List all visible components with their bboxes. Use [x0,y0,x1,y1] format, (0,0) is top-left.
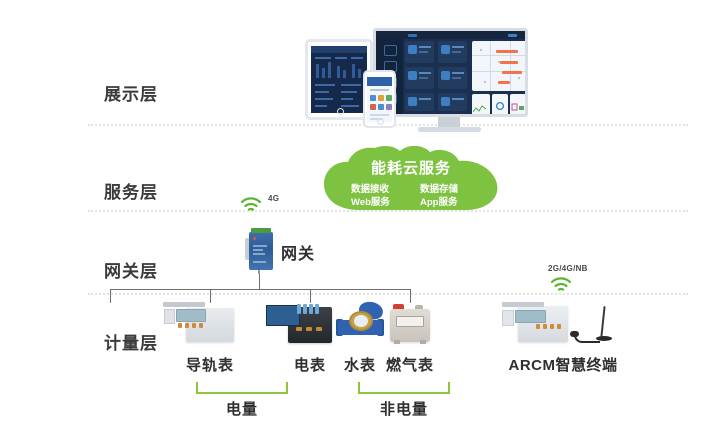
display-layer-devices [305,8,540,120]
bracket-electric-quantity [196,382,288,394]
antenna-plug [570,331,579,337]
connector-bus [110,289,410,290]
gateway-device-icon [245,228,275,272]
layer-divider-3 [88,293,688,295]
wifi-signal-icon [240,196,262,213]
gateway-label: 网关 [281,240,315,264]
bracket-label-electric-quantity: 电量 [196,398,288,419]
din-rail-meter-icon [160,300,260,348]
monitor-map-panel [472,41,527,91]
wifi-signal-icon [550,276,572,293]
desktop-monitor-icon [373,28,528,117]
gas-meter-label: 燃气表 [360,354,460,375]
cloud-service-node: 能耗云服务 数据接收 数据存储 Web服务 App服务 [318,146,504,212]
gas-meter-icon [360,300,460,348]
gateway-uplink-label: 4G [268,194,279,203]
arcm-device-icon [498,300,628,352]
cloud-service-item-0: 数据接收 [351,181,389,195]
arcm-terminal-label: ARCM智慧终端 [498,354,628,375]
cloud-title: 能耗云服务 [318,157,504,178]
smartphone-icon [363,70,396,128]
connector-gateway-drop [259,272,260,290]
tablet-home-button [337,108,344,115]
tablet-screen [311,46,367,113]
antenna-rod [600,306,605,337]
monitor-bottom-widgets [472,94,527,117]
bracket-non-electric-quantity [358,382,450,394]
layer-label-gateway: 网关层 [104,257,190,282]
meter-gas: 燃气表 [360,300,460,375]
cloud-service-item-1: 数据存储 [420,181,458,195]
connector-branch-din [110,289,111,303]
meter-din-rail: 导轨表 [160,300,260,375]
monitor-stat-cards [405,41,469,117]
cloud-service-item-3: App服务 [420,194,457,208]
monitor-topbar [376,31,525,39]
smartphone-home-button [377,118,384,125]
cloud-service-item-2: Web服务 [351,194,390,208]
smartphone-screen [367,77,392,122]
bracket-label-non-electric-quantity: 非电量 [358,398,450,419]
layer-label-display: 展示层 [104,80,190,105]
monitor-stand-base [418,127,481,132]
din-rail-meter-label: 导轨表 [160,354,260,375]
arcm-uplink-label: 2G/4G/NB [548,264,588,273]
layer-label-service: 服务层 [104,178,190,203]
architecture-diagram: 展示层 服务层 网关层 计量层 [0,0,715,443]
